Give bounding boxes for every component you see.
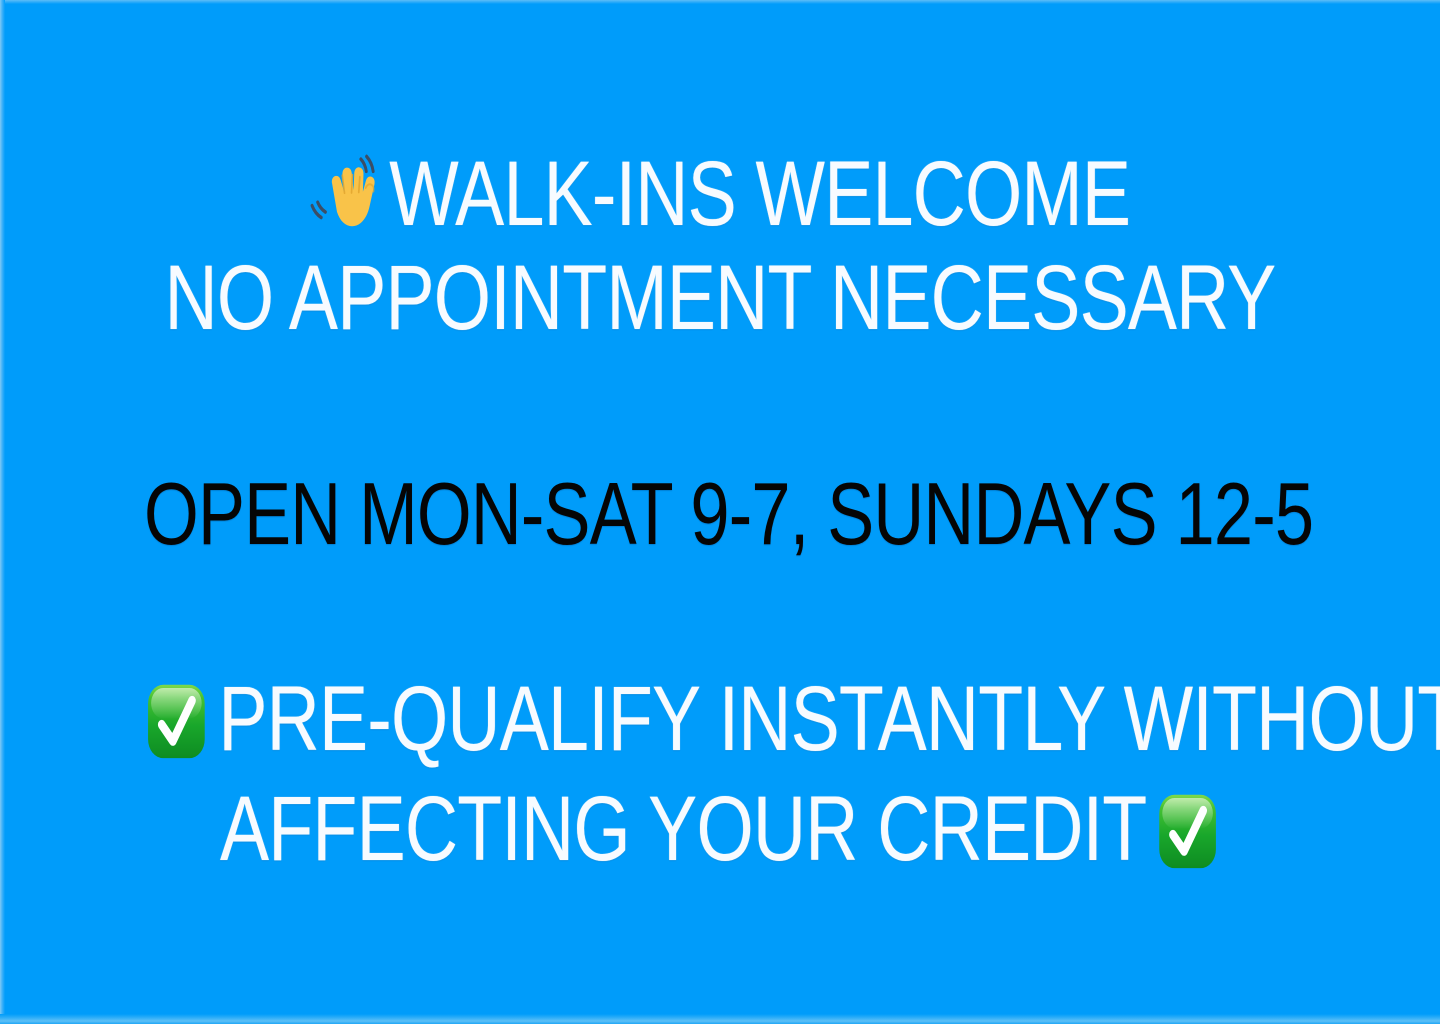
prequalify-line-1-text: PRE-QUALIFY INSTANTLY WITHOUT <box>218 668 1440 770</box>
walkins-headline-line-1-text: WALK-INS WELCOME <box>389 143 1130 245</box>
prequalify-line-2: AFFECTING YOUR CREDIT <box>144 783 1296 875</box>
poster-top-edge-artifact <box>0 0 1440 4</box>
promo-poster: WALK-INS WELCOME NO APPOINTMENT NECESSAR… <box>0 0 1440 1024</box>
white-check-mark-button-icon <box>1155 791 1220 872</box>
prequalify-line-1: PRE-QUALIFY INSTANTLY WITHOUT <box>144 673 1296 765</box>
waving-hand-icon <box>310 150 382 240</box>
opening-hours-block: OPEN MON-SAT 9-7, SUNDAYS 12-5 <box>0 470 1440 558</box>
walkins-message-block: WALK-INS WELCOME NO APPOINTMENT NECESSAR… <box>0 148 1440 344</box>
poster-bottom-edge-artifact <box>0 1014 1440 1024</box>
walkins-headline-line-2: NO APPOINTMENT NECESSARY <box>144 252 1296 344</box>
prequalify-line-2-text: AFFECTING YOUR CREDIT <box>220 778 1146 880</box>
walkins-headline-line-1: WALK-INS WELCOME <box>144 148 1296 240</box>
walkins-headline-line-2-text: NO APPOINTMENT NECESSARY <box>165 247 1276 349</box>
opening-hours-line: OPEN MON-SAT 9-7, SUNDAYS 12-5 <box>144 470 1296 558</box>
opening-hours-text: OPEN MON-SAT 9-7, SUNDAYS 12-5 <box>144 464 1313 563</box>
prequalify-message-block: PRE-QUALIFY INSTANTLY WITHOUT AFFECTING … <box>0 673 1440 875</box>
white-check-mark-button-icon <box>144 681 209 762</box>
